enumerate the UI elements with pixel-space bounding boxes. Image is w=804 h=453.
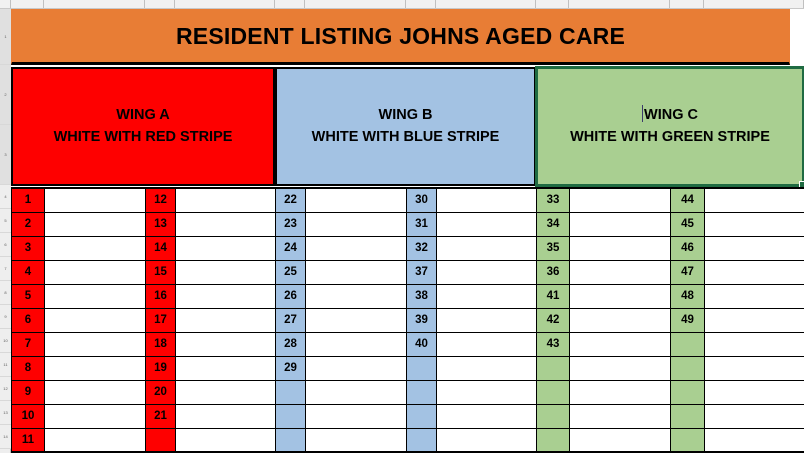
resident-name-cell[interactable] — [570, 212, 671, 236]
resident-name-cell[interactable] — [45, 380, 146, 404]
room-number-cell[interactable]: 8 — [12, 356, 45, 380]
room-number-cell[interactable]: 40 — [407, 332, 437, 356]
resident-name-cell[interactable] — [705, 188, 804, 212]
room-number-cell[interactable]: 4 — [12, 260, 45, 284]
row-header-14[interactable]: 14 — [0, 425, 11, 449]
row-header-5[interactable]: 5 — [0, 209, 11, 233]
room-number-cell[interactable]: 22 — [276, 188, 306, 212]
room-number-cell[interactable]: 14 — [146, 236, 176, 260]
room-number-cell[interactable] — [276, 428, 306, 452]
resident-name-cell[interactable] — [705, 380, 804, 404]
resident-name-cell[interactable] — [45, 188, 146, 212]
resident-name-cell[interactable] — [176, 428, 276, 452]
room-number-cell[interactable]: 5 — [12, 284, 45, 308]
room-number-cell[interactable] — [407, 428, 437, 452]
resident-name-cell[interactable] — [570, 380, 671, 404]
room-number-cell[interactable] — [671, 380, 705, 404]
row-header-7[interactable]: 7 — [0, 257, 11, 281]
resident-name-cell[interactable] — [570, 356, 671, 380]
resident-name-cell[interactable] — [570, 188, 671, 212]
resident-name-cell[interactable] — [306, 188, 407, 212]
resident-name-cell[interactable] — [306, 236, 407, 260]
room-number-cell[interactable] — [671, 404, 705, 428]
room-number-cell[interactable]: 43 — [537, 332, 570, 356]
column-header-strip[interactable] — [0, 0, 804, 9]
resident-name-cell[interactable] — [176, 404, 276, 428]
column-header[interactable] — [704, 0, 804, 8]
wing-header-wing-c[interactable]: WING C WHITE WITH GREEN STRIPE — [536, 67, 804, 186]
table-row: 920 — [12, 380, 804, 404]
room-number-cell[interactable] — [537, 428, 570, 452]
wing-header-wing-b[interactable]: WING B WHITE WITH BLUE STRIPE — [275, 67, 536, 186]
resident-name-cell[interactable] — [437, 404, 537, 428]
row-header-13[interactable]: 13 — [0, 401, 11, 425]
resident-listing-table: 1122230334421323313445314243235464152537… — [11, 187, 804, 453]
resident-name-cell[interactable] — [45, 404, 146, 428]
room-number-cell[interactable]: 25 — [276, 260, 306, 284]
row-header-11[interactable]: 11 — [0, 353, 11, 377]
room-number-cell[interactable]: 32 — [407, 236, 437, 260]
wing-c-subtitle: WHITE WITH GREEN STRIPE — [570, 127, 770, 148]
room-number-cell[interactable]: 45 — [671, 212, 705, 236]
room-number-cell[interactable]: 6 — [12, 308, 45, 332]
resident-name-cell[interactable] — [705, 308, 804, 332]
room-number-cell[interactable]: 34 — [537, 212, 570, 236]
resident-name-cell[interactable] — [705, 284, 804, 308]
room-number-cell[interactable] — [671, 356, 705, 380]
wing-b-name: WING B — [379, 105, 433, 126]
resident-name-cell[interactable] — [45, 428, 146, 452]
resident-name-cell[interactable] — [306, 260, 407, 284]
room-number-cell[interactable]: 18 — [146, 332, 176, 356]
resident-name-cell[interactable] — [437, 380, 537, 404]
sheet-grid: RESIDENT LISTING JOHNS AGED CARE WING A … — [11, 9, 804, 453]
resident-name-cell[interactable] — [570, 404, 671, 428]
wing-a-name: WING A — [116, 105, 169, 126]
room-number-cell[interactable] — [537, 380, 570, 404]
resident-name-cell[interactable] — [45, 260, 146, 284]
room-number-cell[interactable] — [407, 380, 437, 404]
table-row: 11222303344 — [12, 188, 804, 212]
resident-name-cell[interactable] — [176, 356, 276, 380]
table-row: 61727394249 — [12, 308, 804, 332]
resident-name-cell[interactable] — [306, 284, 407, 308]
resident-name-cell[interactable] — [705, 260, 804, 284]
room-number-cell[interactable] — [276, 380, 306, 404]
resident-name-cell[interactable] — [437, 260, 537, 284]
room-number-cell[interactable]: 36 — [537, 260, 570, 284]
row-header-6[interactable]: 6 — [0, 233, 11, 257]
table-row: 31424323546 — [12, 236, 804, 260]
room-number-cell[interactable]: 9 — [12, 380, 45, 404]
room-number-cell[interactable]: 21 — [146, 404, 176, 428]
resident-name-cell[interactable] — [306, 356, 407, 380]
room-number-cell[interactable]: 13 — [146, 212, 176, 236]
room-number-cell[interactable]: 26 — [276, 284, 306, 308]
wing-b-subtitle: WHITE WITH BLUE STRIPE — [312, 127, 500, 148]
room-number-cell[interactable]: 35 — [537, 236, 570, 260]
resident-name-cell[interactable] — [306, 404, 407, 428]
resident-name-cell[interactable] — [45, 212, 146, 236]
resident-name-cell[interactable] — [705, 212, 804, 236]
room-number-cell[interactable]: 44 — [671, 188, 705, 212]
resident-name-cell[interactable] — [176, 284, 276, 308]
room-number-cell[interactable]: 41 — [537, 284, 570, 308]
room-number-cell[interactable]: 3 — [12, 236, 45, 260]
room-number-cell[interactable]: 48 — [671, 284, 705, 308]
resident-name-cell[interactable] — [45, 356, 146, 380]
resident-name-cell[interactable] — [306, 308, 407, 332]
column-header[interactable] — [175, 0, 275, 8]
column-header[interactable] — [145, 0, 175, 8]
room-number-cell[interactable]: 12 — [146, 188, 176, 212]
resident-name-cell[interactable] — [437, 356, 537, 380]
row-header-10[interactable]: 10 — [0, 329, 11, 353]
resident-name-cell[interactable] — [45, 284, 146, 308]
resident-name-cell[interactable] — [306, 380, 407, 404]
room-number-cell[interactable]: 38 — [407, 284, 437, 308]
resident-name-cell[interactable] — [570, 308, 671, 332]
table-row: 51626384148 — [12, 284, 804, 308]
room-number-cell[interactable] — [276, 404, 306, 428]
room-number-cell[interactable]: 49 — [671, 308, 705, 332]
column-header[interactable] — [11, 0, 44, 8]
wing-header-row: WING A WHITE WITH RED STRIPE WING B WHIT… — [11, 67, 804, 186]
row-header-1[interactable]: 1 — [0, 9, 11, 65]
resident-name-cell[interactable] — [570, 236, 671, 260]
table-row: 718284043 — [12, 332, 804, 356]
room-number-cell[interactable]: 16 — [146, 284, 176, 308]
resident-name-cell[interactable] — [437, 188, 537, 212]
table-row: 1021 — [12, 404, 804, 428]
room-number-cell[interactable]: 30 — [407, 188, 437, 212]
room-number-cell[interactable] — [537, 404, 570, 428]
resident-name-cell[interactable] — [705, 332, 804, 356]
room-number-cell[interactable]: 7 — [12, 332, 45, 356]
resident-name-cell[interactable] — [570, 260, 671, 284]
room-number-cell[interactable]: 31 — [407, 212, 437, 236]
room-number-cell[interactable]: 47 — [671, 260, 705, 284]
spreadsheet-canvas: 1234567891011121314 RESIDENT LISTING JOH… — [0, 0, 804, 453]
table-row: 41525373647 — [12, 260, 804, 284]
room-number-cell[interactable] — [146, 428, 176, 452]
table-row: 21323313445 — [12, 212, 804, 236]
resident-name-cell[interactable] — [437, 332, 537, 356]
resident-name-cell[interactable] — [176, 332, 276, 356]
room-number-cell[interactable]: 19 — [146, 356, 176, 380]
room-number-cell[interactable] — [671, 332, 705, 356]
room-number-cell[interactable]: 29 — [276, 356, 306, 380]
table-row: 11 — [12, 428, 804, 452]
resident-name-cell[interactable] — [176, 188, 276, 212]
resident-name-cell[interactable] — [437, 236, 537, 260]
row-header-2[interactable]: 2 — [0, 65, 11, 125]
resident-name-cell[interactable] — [45, 332, 146, 356]
room-number-cell[interactable] — [407, 404, 437, 428]
column-header[interactable] — [569, 0, 670, 8]
row-header-12[interactable]: 12 — [0, 377, 11, 401]
resident-name-cell[interactable] — [570, 284, 671, 308]
column-header[interactable] — [670, 0, 704, 8]
row-header-8[interactable]: 8 — [0, 281, 11, 305]
resident-name-cell[interactable] — [176, 308, 276, 332]
resident-name-cell[interactable] — [176, 212, 276, 236]
text-caret — [642, 105, 643, 122]
room-number-cell[interactable]: 23 — [276, 212, 306, 236]
wing-c-name-line: WING C — [642, 105, 698, 126]
resident-name-cell[interactable] — [705, 404, 804, 428]
room-number-cell[interactable]: 37 — [407, 260, 437, 284]
resident-name-cell[interactable] — [705, 428, 804, 452]
room-number-cell[interactable]: 27 — [276, 308, 306, 332]
column-header[interactable] — [406, 0, 436, 8]
resident-name-cell[interactable] — [570, 428, 671, 452]
resident-name-cell[interactable] — [437, 308, 537, 332]
room-number-cell[interactable]: 10 — [12, 404, 45, 428]
room-number-cell[interactable]: 39 — [407, 308, 437, 332]
resident-name-cell[interactable] — [176, 380, 276, 404]
row-header-4[interactable]: 4 — [0, 185, 11, 209]
room-number-cell[interactable] — [407, 356, 437, 380]
row-header-3[interactable]: 3 — [0, 125, 11, 185]
column-header[interactable] — [44, 0, 145, 8]
resident-name-cell[interactable] — [437, 284, 537, 308]
row-header-9[interactable]: 9 — [0, 305, 11, 329]
resident-name-cell[interactable] — [45, 236, 146, 260]
room-number-cell[interactable]: 1 — [12, 188, 45, 212]
resident-name-cell[interactable] — [45, 308, 146, 332]
resident-name-cell[interactable] — [306, 428, 407, 452]
resident-name-cell[interactable] — [570, 332, 671, 356]
wing-header-wing-a[interactable]: WING A WHITE WITH RED STRIPE — [11, 67, 275, 186]
room-number-cell[interactable]: 11 — [12, 428, 45, 452]
room-number-cell[interactable]: 28 — [276, 332, 306, 356]
resident-name-cell[interactable] — [306, 212, 407, 236]
room-number-cell[interactable]: 33 — [537, 188, 570, 212]
resident-name-cell[interactable] — [437, 428, 537, 452]
room-number-cell[interactable]: 46 — [671, 236, 705, 260]
room-number-cell[interactable] — [537, 356, 570, 380]
room-number-cell[interactable] — [671, 428, 705, 452]
resident-name-cell[interactable] — [705, 236, 804, 260]
resident-name-cell[interactable] — [437, 212, 537, 236]
corner-select-all[interactable] — [0, 0, 11, 8]
page-title[interactable]: RESIDENT LISTING JOHNS AGED CARE — [11, 9, 790, 65]
column-header[interactable] — [275, 0, 305, 8]
resident-name-cell[interactable] — [176, 260, 276, 284]
column-header[interactable] — [436, 0, 536, 8]
resident-name-cell[interactable] — [705, 356, 804, 380]
row-header-gutter[interactable]: 1234567891011121314 — [0, 9, 11, 453]
room-number-cell[interactable]: 17 — [146, 308, 176, 332]
room-number-cell[interactable]: 15 — [146, 260, 176, 284]
room-number-cell[interactable]: 20 — [146, 380, 176, 404]
room-number-cell[interactable]: 42 — [537, 308, 570, 332]
resident-name-cell[interactable] — [176, 236, 276, 260]
table-row: 81929 — [12, 356, 804, 380]
column-header[interactable] — [536, 0, 569, 8]
wing-c-name: WING C — [644, 107, 698, 123]
room-number-cell[interactable]: 2 — [12, 212, 45, 236]
wing-a-subtitle: WHITE WITH RED STRIPE — [54, 127, 233, 148]
column-header[interactable] — [305, 0, 406, 8]
resident-name-cell[interactable] — [306, 332, 407, 356]
room-number-cell[interactable]: 24 — [276, 236, 306, 260]
